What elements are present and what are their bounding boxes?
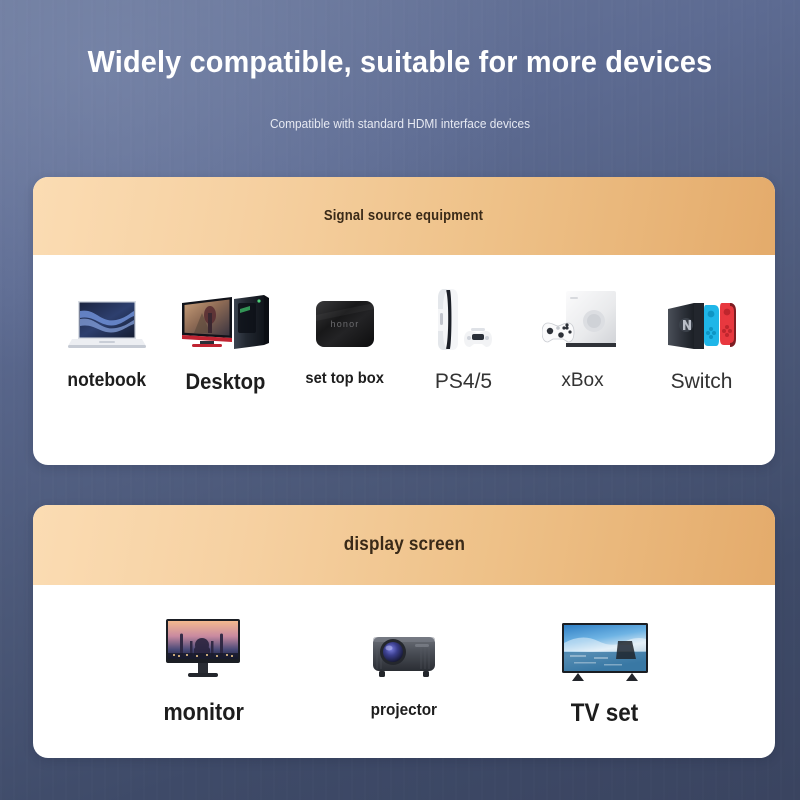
device-label-set-top-box: set top box [305, 371, 384, 387]
display-screen-banner: display screen [33, 505, 775, 585]
device-label-tv-set: TV set [571, 701, 639, 726]
device-label-playstation: PS4/5 [435, 371, 492, 392]
device-label-desktop: Desktop [186, 371, 266, 393]
display-screen-card: display screen [33, 505, 775, 758]
promo-page: Widely compatible, suitable for more dev… [0, 0, 800, 800]
display-screen-device-list: monitor [33, 585, 775, 726]
signal-source-banner: Signal source equipment [33, 177, 775, 255]
projector-icon [369, 611, 439, 683]
set-top-box-brand-text: honor [330, 319, 359, 329]
device-item-playstation[interactable]: PS4/5 [405, 281, 523, 392]
signal-source-banner-label: Signal source equipment [324, 208, 483, 224]
device-label-projector: projector [371, 701, 437, 718]
signal-source-device-list: notebook [33, 255, 775, 393]
xbox-console-icon [542, 281, 624, 353]
page-subtitle: Compatible with standard HDMI interface … [20, 117, 780, 131]
device-item-switch[interactable]: Switch [643, 281, 761, 392]
device-item-monitor[interactable]: monitor [118, 611, 288, 725]
signal-source-card: Signal source equipment [33, 177, 775, 465]
page-header: Widely compatible, suitable for more dev… [0, 0, 800, 131]
device-item-projector[interactable]: projector [319, 611, 489, 718]
device-label-xbox: xBox [561, 371, 603, 390]
device-label-monitor: monitor [163, 701, 243, 725]
laptop-icon [66, 281, 148, 353]
device-item-desktop[interactable]: Desktop [167, 281, 285, 393]
playstation-console-icon [426, 281, 502, 353]
computer-monitor-icon [160, 611, 246, 683]
device-item-tv-set[interactable]: TV set [520, 611, 690, 726]
device-label-switch: Switch [671, 371, 733, 392]
nintendo-switch-icon [660, 281, 744, 353]
device-item-notebook[interactable]: notebook [48, 281, 166, 390]
device-label-notebook: notebook [67, 371, 146, 390]
page-title: Widely compatible, suitable for more dev… [28, 44, 772, 80]
set-top-box-icon: honor [312, 281, 378, 353]
device-item-xbox[interactable]: xBox [524, 281, 642, 390]
desktop-pc-icon [180, 281, 272, 353]
device-item-set-top-box[interactable]: honor set top box [286, 281, 404, 387]
television-icon [560, 611, 650, 683]
display-screen-banner-label: display screen [343, 534, 464, 556]
